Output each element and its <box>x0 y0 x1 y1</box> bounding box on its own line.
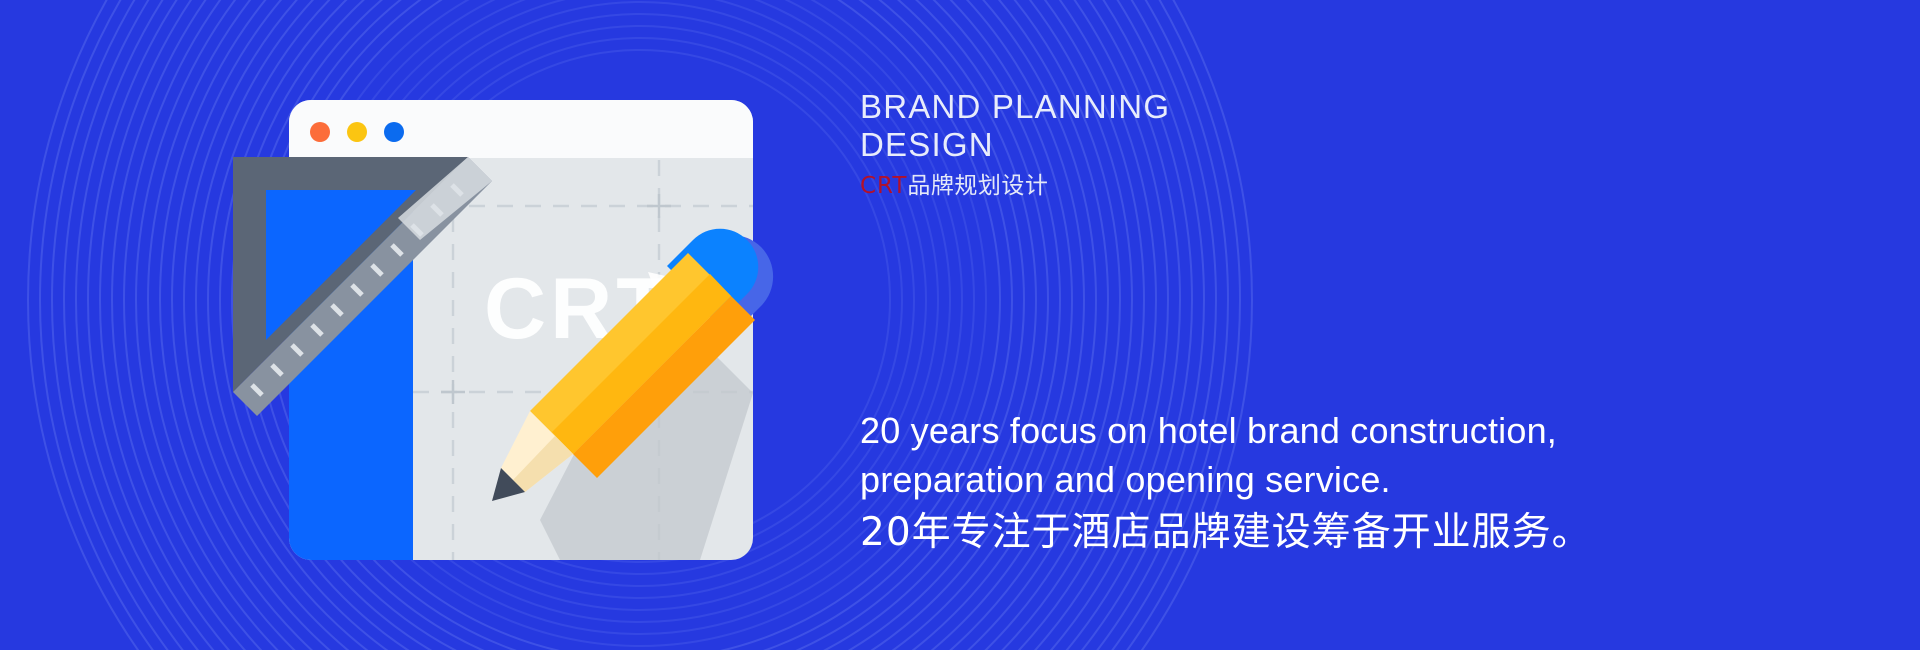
eyebrow-heading: BRAND PLANNING DESIGN <box>860 88 1500 164</box>
brand-banner: CRT <box>0 0 1920 650</box>
close-dot <box>310 122 330 142</box>
maximize-dot <box>384 122 404 142</box>
sub-brand-line: CRT品牌规划设计 <box>860 172 1048 200</box>
headline-chinese: 20年专注于酒店品牌建设筹备开业服务。 <box>860 508 1592 558</box>
copy-column: BRAND PLANNING DESIGN CRT品牌规划设计 20 years… <box>860 0 1920 650</box>
headline-english: 20 years focus on hotel brand constructi… <box>860 406 1730 504</box>
sub-brand-zh: 品牌规划设计 <box>907 173 1048 199</box>
minimize-dot <box>347 122 367 142</box>
sub-brand-crt: CRT <box>860 173 907 199</box>
brand-illustration: CRT <box>0 0 860 650</box>
